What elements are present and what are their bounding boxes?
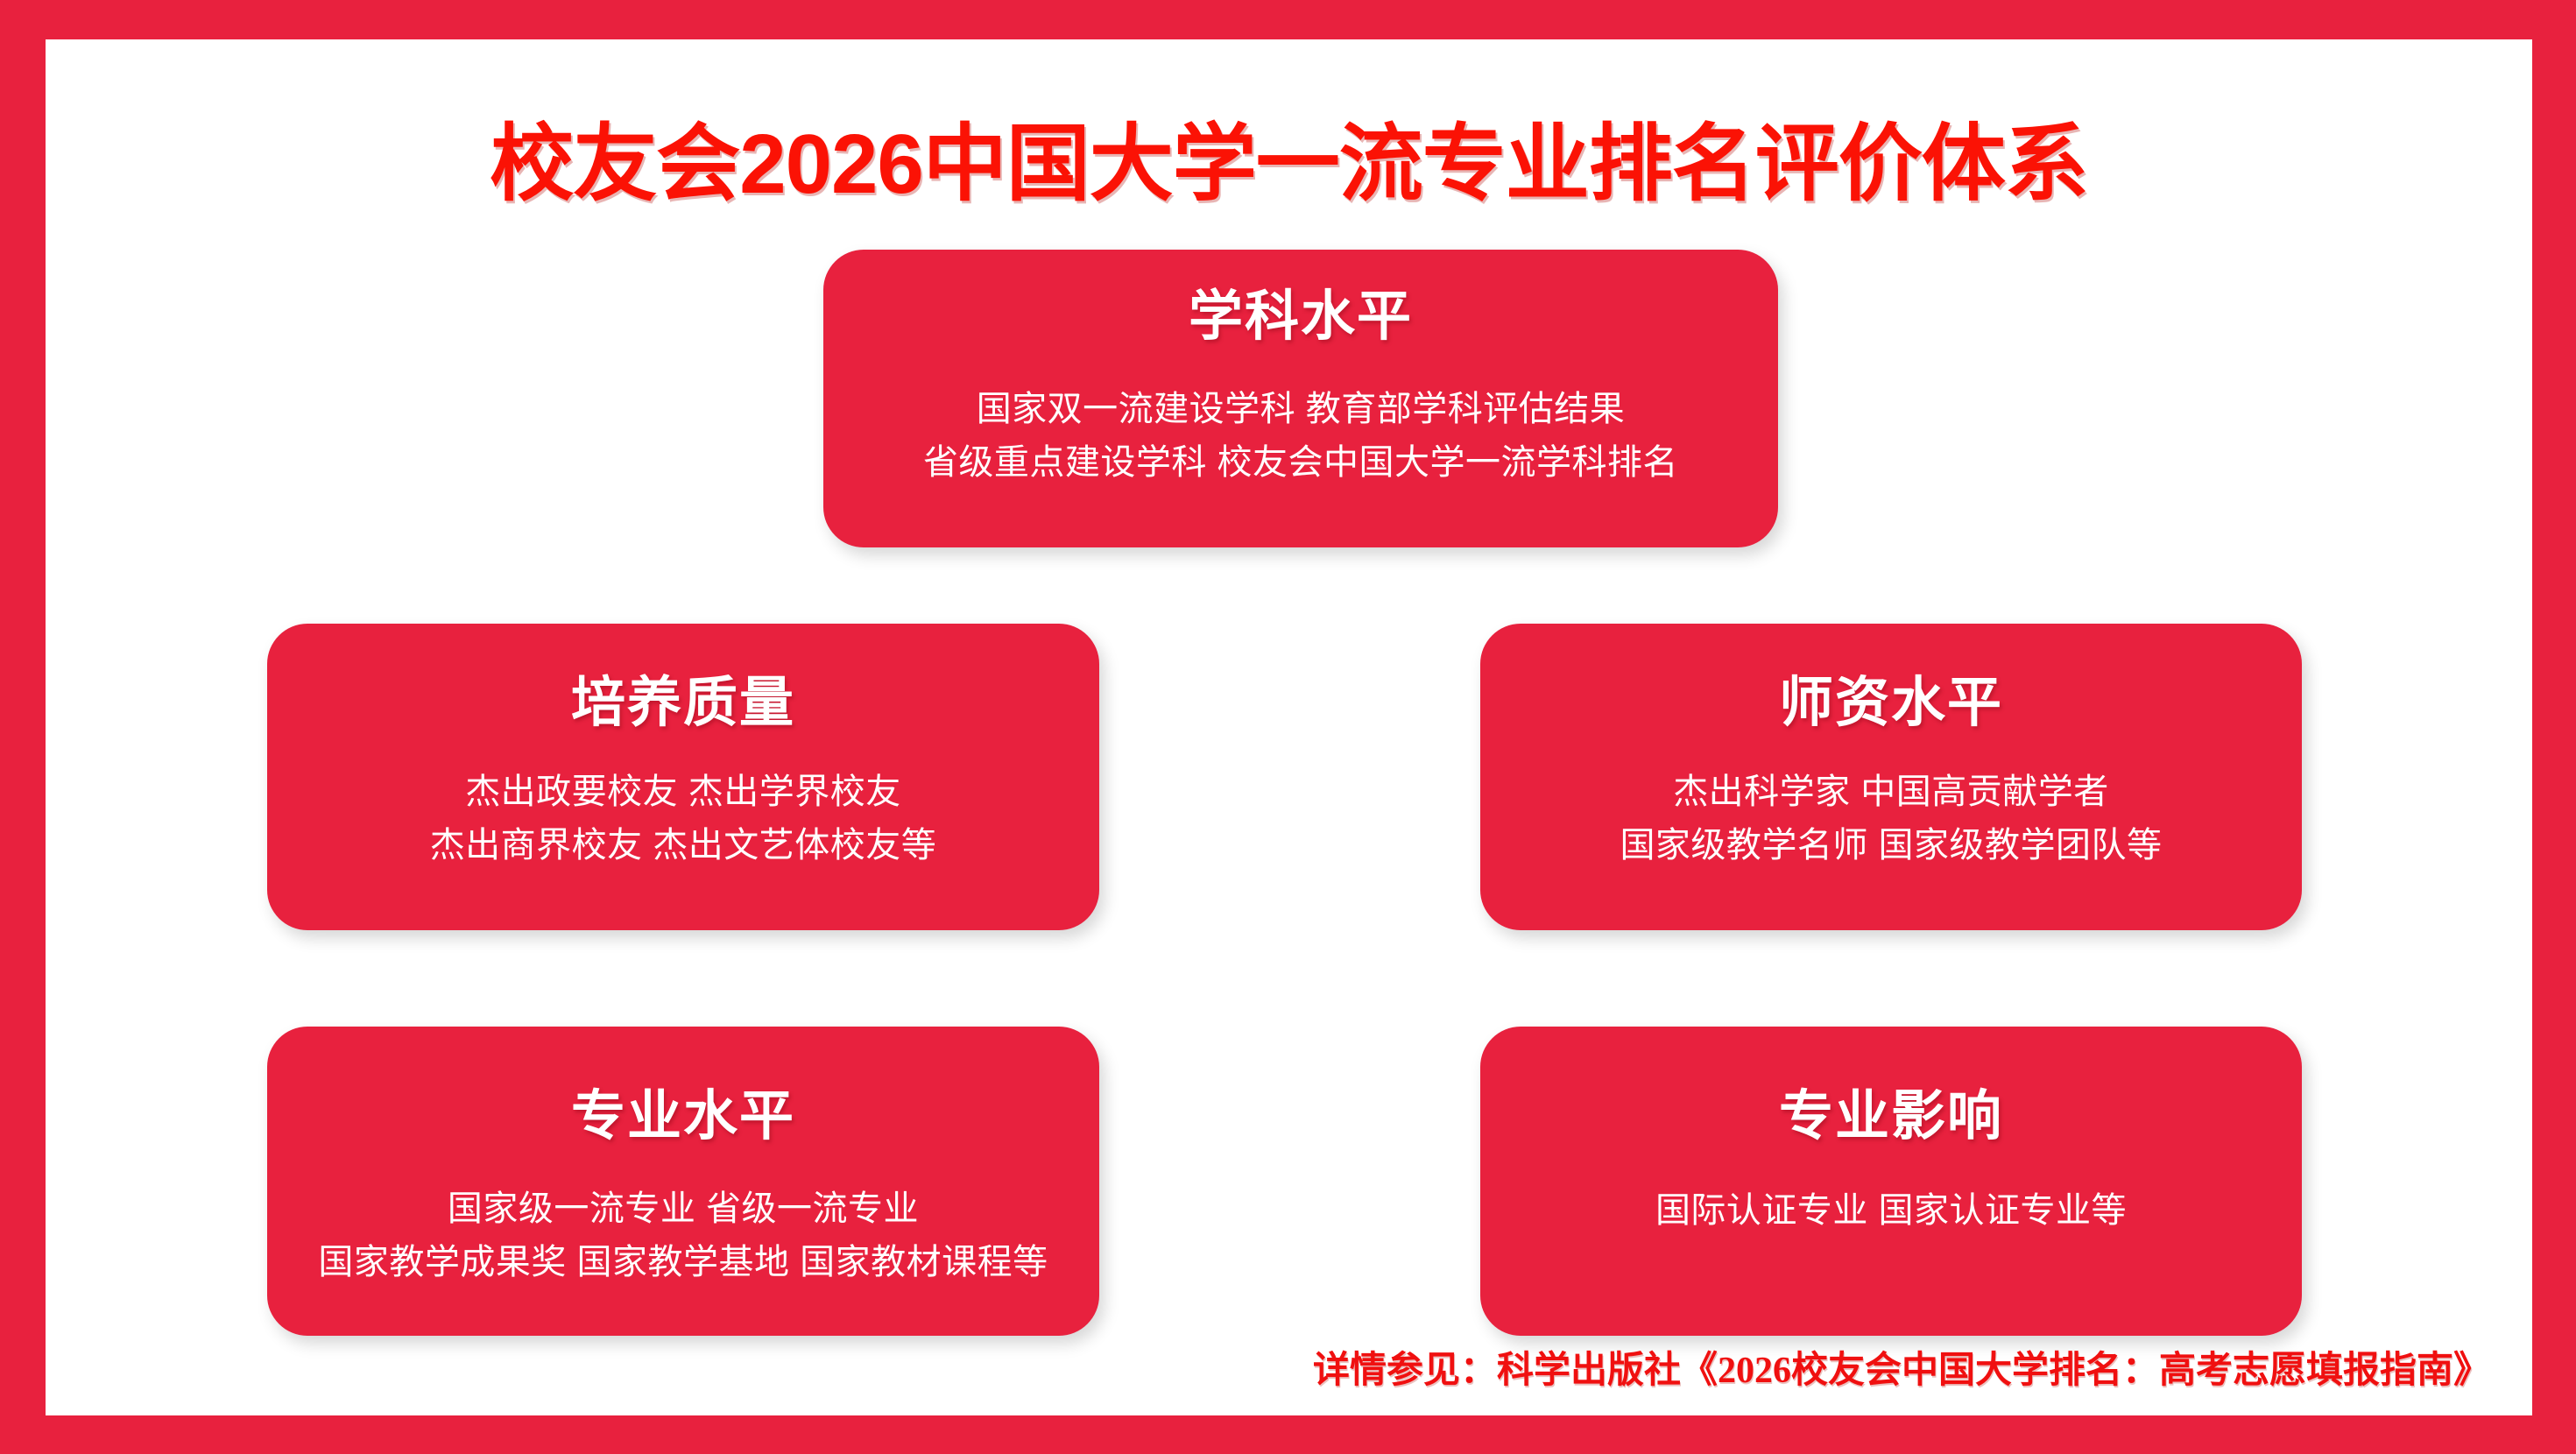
card-line: 杰出科学家 中国高贡献学者 xyxy=(1620,766,2162,819)
footer-source-note: 详情参见：科学出版社《2026校友会中国大学排名：高考志愿填报指南》 xyxy=(1313,1340,2490,1394)
card-discipline-level: 学科水平 国家双一流建设学科 教育部学科评估结果 省级重点建设学科 校友会中国大… xyxy=(823,250,1778,547)
card-line: 省级重点建设学科 校友会中国大学一流学科排名 xyxy=(923,436,1678,490)
card-line: 国家教学成果奖 国家教学基地 国家教材课程等 xyxy=(318,1236,1048,1289)
card-line: 国际认证专业 国家认证专业等 xyxy=(1655,1184,2127,1238)
card-title-major-level: 专业水平 xyxy=(571,1090,795,1144)
card-lines-major-impact: 国际认证专业 国家认证专业等 xyxy=(1655,1184,2127,1238)
card-line: 国家双一流建设学科 教育部学科评估结果 xyxy=(923,383,1678,436)
poster-canvas: 校友会2026中国大学一流专业排名评价体系 学科水平 国家双一流建设学科 教育部… xyxy=(46,39,2532,1415)
card-title-major-impact: 专业影响 xyxy=(1779,1090,2003,1144)
card-lines-discipline-level: 国家双一流建设学科 教育部学科评估结果 省级重点建设学科 校友会中国大学一流学科… xyxy=(923,383,1678,490)
card-lines-cultivation-quality: 杰出政要校友 杰出学界校友 杰出商界校友 杰出文艺体校友等 xyxy=(430,766,937,872)
card-title-cultivation-quality: 培养质量 xyxy=(571,676,795,731)
card-major-level: 专业水平 国家级一流专业 省级一流专业 国家教学成果奖 国家教学基地 国家教材课… xyxy=(267,1027,1099,1336)
card-title-faculty-level: 师资水平 xyxy=(1779,676,2003,731)
card-cultivation-quality: 培养质量 杰出政要校友 杰出学界校友 杰出商界校友 杰出文艺体校友等 xyxy=(267,624,1099,930)
card-line: 国家级教学名师 国家级教学团队等 xyxy=(1620,819,2162,872)
card-major-impact: 专业影响 国际认证专业 国家认证专业等 xyxy=(1480,1027,2302,1336)
poster-root: 校友会2026中国大学一流专业排名评价体系 学科水平 国家双一流建设学科 教育部… xyxy=(0,0,2576,1454)
card-title-discipline-level: 学科水平 xyxy=(1189,290,1413,344)
card-line: 国家级一流专业 省级一流专业 xyxy=(318,1182,1048,1236)
card-lines-major-level: 国家级一流专业 省级一流专业 国家教学成果奖 国家教学基地 国家教材课程等 xyxy=(318,1182,1048,1289)
card-line: 杰出商界校友 杰出文艺体校友等 xyxy=(430,819,937,872)
card-lines-faculty-level: 杰出科学家 中国高贡献学者 国家级教学名师 国家级教学团队等 xyxy=(1620,766,2162,872)
page-title: 校友会2026中国大学一流专业排名评价体系 xyxy=(46,118,2532,211)
card-line: 杰出政要校友 杰出学界校友 xyxy=(430,766,937,819)
card-faculty-level: 师资水平 杰出科学家 中国高贡献学者 国家级教学名师 国家级教学团队等 xyxy=(1480,624,2302,930)
